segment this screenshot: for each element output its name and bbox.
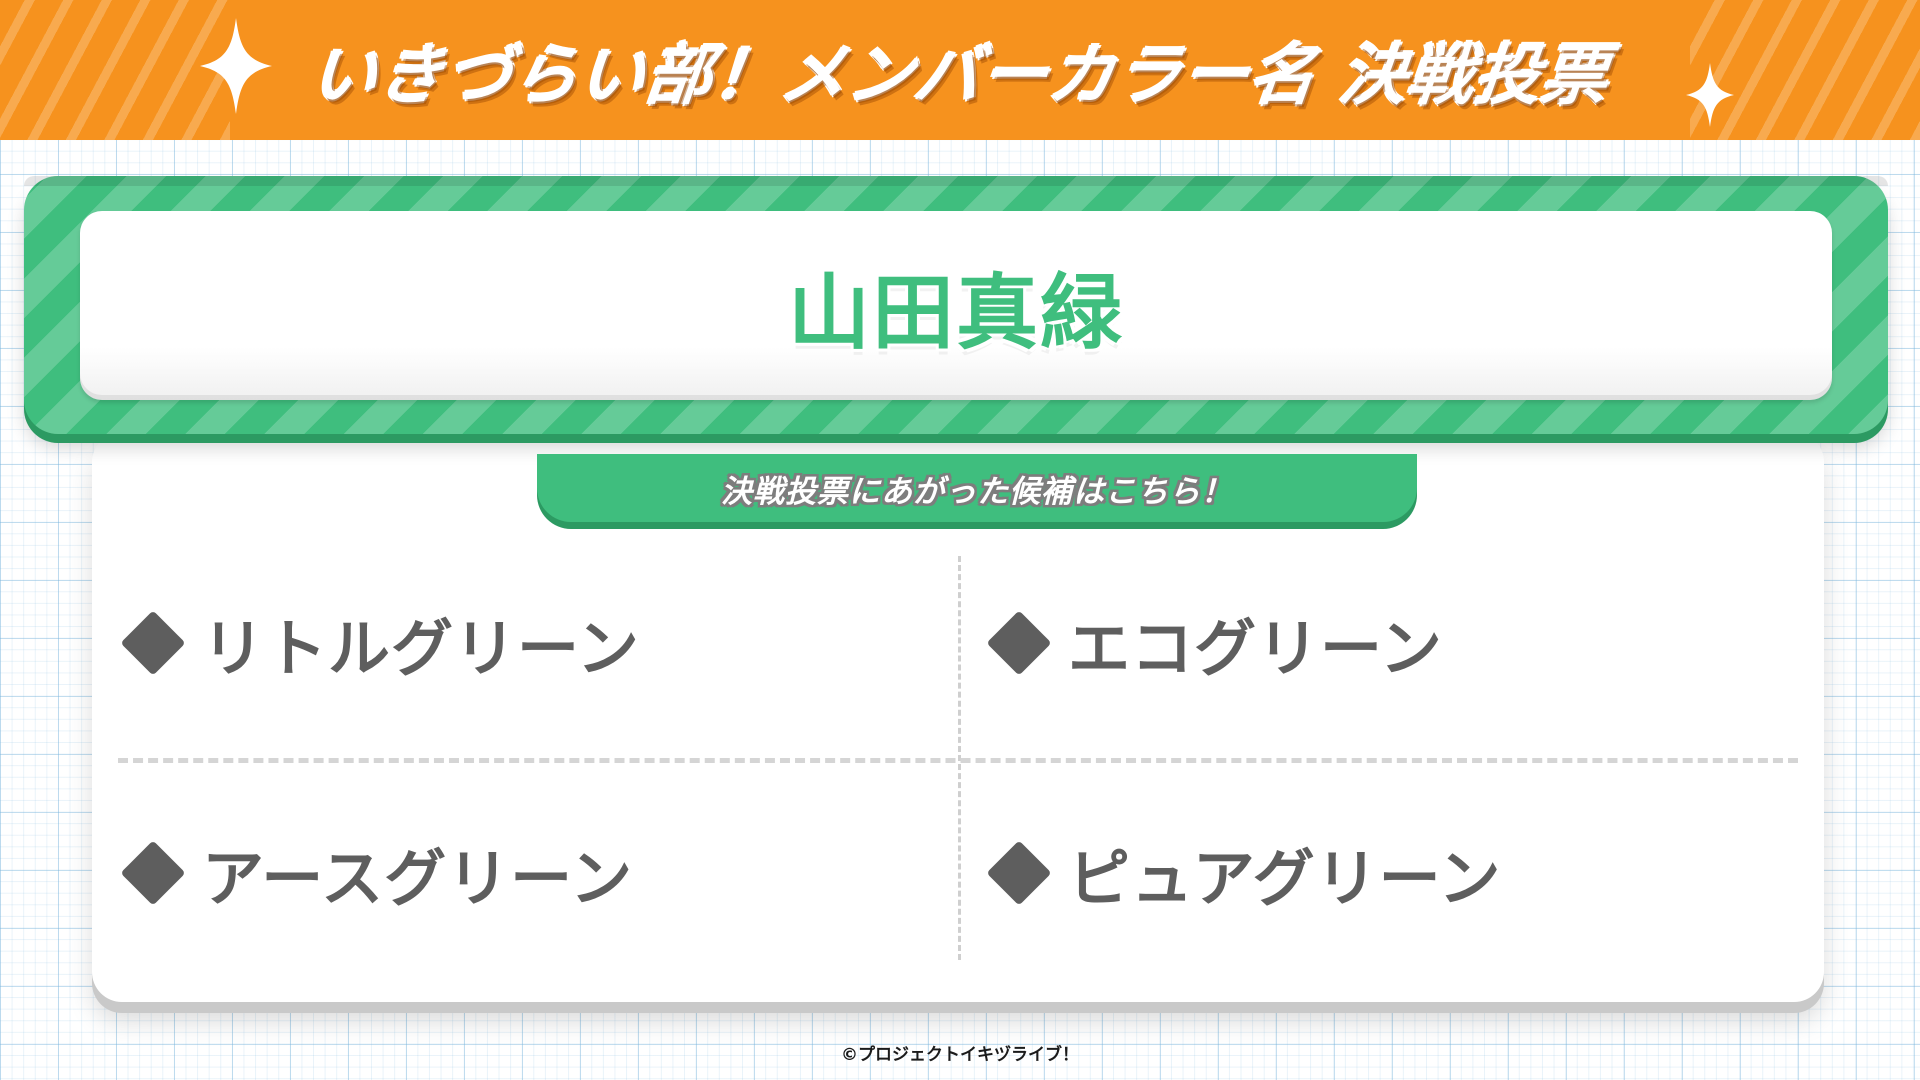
candidate-cell-2[interactable]: エコグリーン (958, 528, 1824, 758)
candidate-cell-4[interactable]: ピュアグリーン (958, 758, 1824, 988)
page-title: いきづらい部！メンバーカラー名 決戦投票 (306, 22, 1613, 118)
member-name-text: 山田真緑 (788, 246, 1124, 365)
candidate-label: アースグリーン (202, 828, 633, 918)
candidate-option[interactable]: アースグリーン (130, 828, 633, 918)
sub-banner-label: 決戦投票にあがった候補はこちら！ (721, 466, 1233, 511)
diamond-icon (120, 610, 185, 675)
candidate-option[interactable]: エコグリーン (996, 598, 1443, 688)
candidates-grid: リトルグリーン エコグリーン アースグリーン ピュアグリーン (92, 528, 1824, 988)
diamond-icon (120, 840, 185, 905)
candidate-cell-1[interactable]: リトルグリーン (92, 528, 958, 758)
copyright-text: ©プロジェクトイキヅライブ！ (841, 1045, 1079, 1065)
diamond-icon (986, 840, 1051, 905)
candidate-label: リトルグリーン (202, 598, 640, 688)
diamond-icon (986, 610, 1051, 675)
candidate-label: ピュアグリーン (1068, 828, 1502, 918)
slide-stage: いきづらい部！メンバーカラー名 決戦投票 山田真緑 決戦投票にあがった候補はこち… (0, 0, 1920, 1080)
sparkle-icon (1686, 62, 1734, 128)
header-banner: いきづらい部！メンバーカラー名 決戦投票 (0, 0, 1920, 140)
member-name-panel: 山田真緑 (24, 176, 1888, 434)
candidate-option[interactable]: ピュアグリーン (996, 828, 1502, 918)
header-inner: いきづらい部！メンバーカラー名 決戦投票 (0, 0, 1920, 140)
candidate-cell-3[interactable]: アースグリーン (92, 758, 958, 988)
member-name-plate: 山田真緑 (80, 211, 1832, 400)
footer: ©プロジェクトイキヅライブ！ (0, 1040, 1920, 1065)
sub-banner: 決戦投票にあがった候補はこちら！ (537, 454, 1417, 522)
candidate-option[interactable]: リトルグリーン (130, 598, 640, 688)
candidate-label: エコグリーン (1068, 598, 1443, 688)
